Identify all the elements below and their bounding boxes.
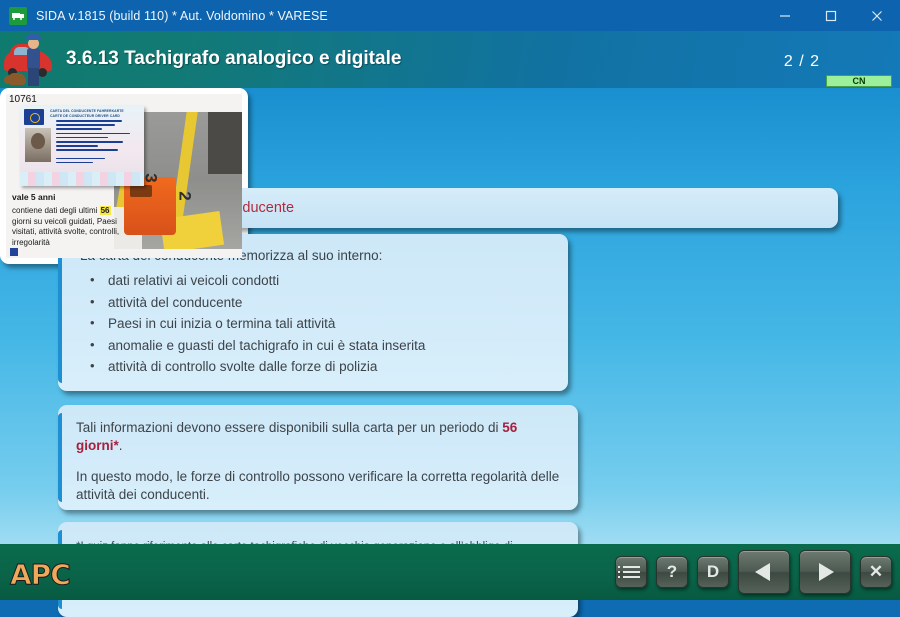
- letter-d-icon: D: [707, 562, 719, 582]
- arrow-right-icon: [812, 561, 838, 583]
- driver-card-fields: [56, 120, 140, 166]
- index-button[interactable]: [615, 556, 647, 588]
- maximize-button[interactable]: [808, 0, 854, 31]
- minimize-button[interactable]: [762, 0, 808, 31]
- police-officer-car-dog-illustration: [2, 31, 68, 88]
- apc-logo: APC: [10, 558, 70, 591]
- info-card: Tali informazioni devono essere disponib…: [58, 405, 578, 510]
- close-x-icon: ✕: [869, 562, 883, 582]
- list-item: attività di controllo svolte dalle forze…: [80, 356, 552, 378]
- next-button[interactable]: [799, 550, 851, 594]
- window-title: SIDA v.1815 (build 110) * Aut. Voldomino…: [36, 9, 328, 23]
- illustration: 3 2 CARTA DEL CONDUCENTE FAHRERKARTE CAR…: [6, 94, 242, 258]
- info-paragraph-1: Tali informazioni devono essere disponib…: [76, 419, 562, 455]
- info-paragraph-2: In questo modo, le forze di controllo po…: [76, 468, 562, 504]
- list-item: Paesi in cui inizia o termina tali attiv…: [80, 313, 552, 335]
- arrow-left-icon: [751, 561, 777, 583]
- driver-card-header: CARTA DEL CONDUCENTE FAHRERKARTE CARTE D…: [50, 109, 124, 119]
- window-titlebar: SIDA v.1815 (build 110) * Aut. Voldomino…: [0, 0, 900, 31]
- eu-flag-icon: [24, 109, 44, 125]
- caption-before: contiene dati degli ultimi: [12, 206, 100, 215]
- truck-icon: [9, 7, 27, 25]
- info-text-before: Tali informazioni devono essere disponib…: [76, 420, 502, 435]
- list-item: attività del conducente: [80, 292, 552, 314]
- info-text-after: .: [119, 438, 123, 453]
- publisher-logo-icon: [10, 248, 18, 256]
- status-badge: CN: [826, 75, 892, 88]
- toolbar-buttons: ? D ✕: [615, 550, 892, 594]
- help-button[interactable]: ?: [656, 556, 688, 588]
- bottom-toolbar: APC ? D ✕: [0, 544, 900, 600]
- list-item: anomalie e guasti del tachigrafo in cui …: [80, 335, 552, 357]
- bullet-list: dati relativi ai veicoli condotti attivi…: [80, 270, 552, 378]
- illustration-card[interactable]: 3 2 CARTA DEL CONDUCENTE FAHRERKARTE CAR…: [0, 88, 248, 264]
- illustration-caption: contiene dati degli ultimi 56 giorni su …: [12, 206, 130, 248]
- content-area: Carta tachigrafica del conducente La car…: [0, 88, 900, 544]
- previous-button[interactable]: [738, 550, 790, 594]
- list-item: dati relativi ai veicoli condotti: [80, 270, 552, 292]
- dictionary-button[interactable]: D: [697, 556, 729, 588]
- page-title: 3.6.13 Tachigrafo analogico e digitale: [66, 48, 401, 70]
- exit-button[interactable]: ✕: [860, 556, 892, 588]
- list-icon: [623, 566, 640, 579]
- status-badge-label: CN: [826, 75, 892, 87]
- close-button[interactable]: [854, 0, 900, 31]
- question-icon: ?: [667, 562, 677, 582]
- illustration-id: 10761: [9, 94, 37, 105]
- driver-photo: [25, 128, 51, 162]
- driver-card-graphic: CARTA DEL CONDUCENTE FAHRERKARTE CARTE D…: [20, 106, 144, 186]
- lane-number-2: 2: [175, 191, 195, 200]
- page-header: 3.6.13 Tachigrafo analogico e digitale 2…: [0, 31, 900, 88]
- driver-card-hologram-strip: [20, 172, 144, 186]
- caption-after: giorni su veicoli guidati, Paesi visitat…: [12, 217, 119, 247]
- page-counter: 2 / 2: [784, 53, 820, 71]
- caption-highlight: 56: [100, 206, 111, 215]
- illustration-caption-title: vale 5 anni: [12, 192, 55, 202]
